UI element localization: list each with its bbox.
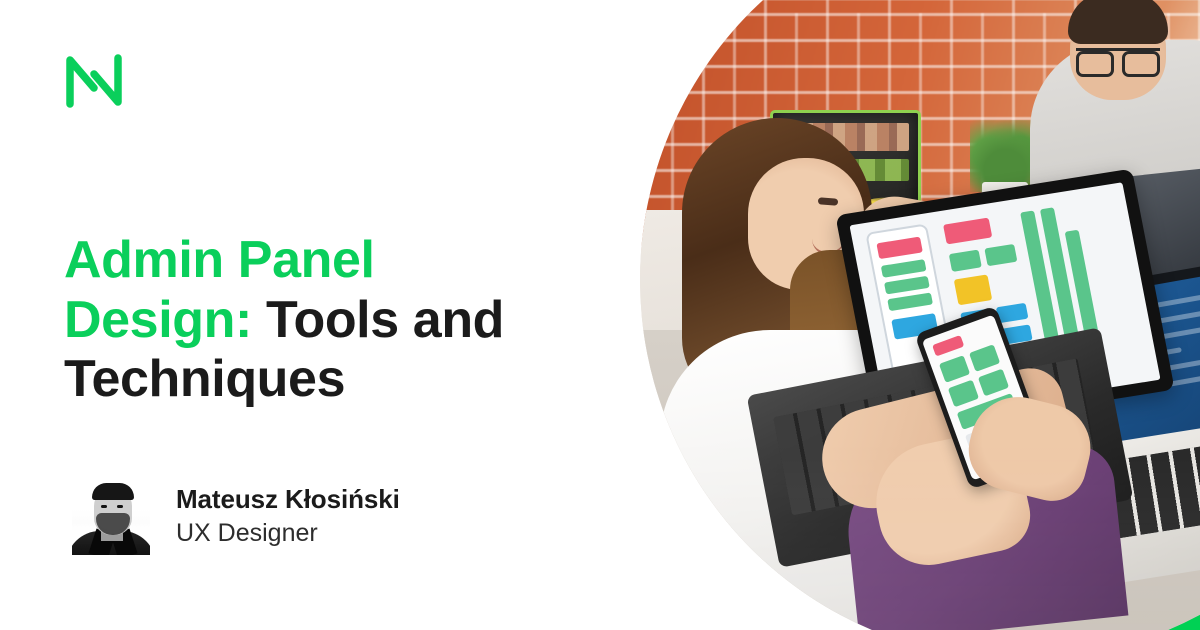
author-byline: Mateusz Kłosiński UX Designer	[72, 477, 400, 555]
author-role: UX Designer	[176, 517, 400, 550]
author-name: Mateusz Kłosiński	[176, 483, 400, 516]
letter-n-logo-icon[interactable]	[64, 52, 124, 110]
author-details: Mateusz Kłosiński UX Designer	[176, 483, 400, 550]
social-card: Admin Panel Design: Tools and Techniques	[0, 0, 1200, 630]
title-line-3: Techniques	[64, 350, 345, 408]
page-title: Admin Panel Design: Tools and Techniques	[64, 231, 604, 410]
hero-image-photo	[640, 0, 1200, 630]
content-column: Admin Panel Design: Tools and Techniques	[0, 0, 640, 630]
photo-overlay	[640, 0, 1200, 630]
title-line-2-accent: Design:	[64, 291, 252, 349]
avatar	[72, 477, 150, 555]
hero-image	[640, 0, 1200, 630]
title-line-1: Admin Panel	[64, 231, 375, 289]
author-avatar-photo	[72, 477, 150, 555]
title-line-2-rest: Tools and	[266, 291, 504, 349]
